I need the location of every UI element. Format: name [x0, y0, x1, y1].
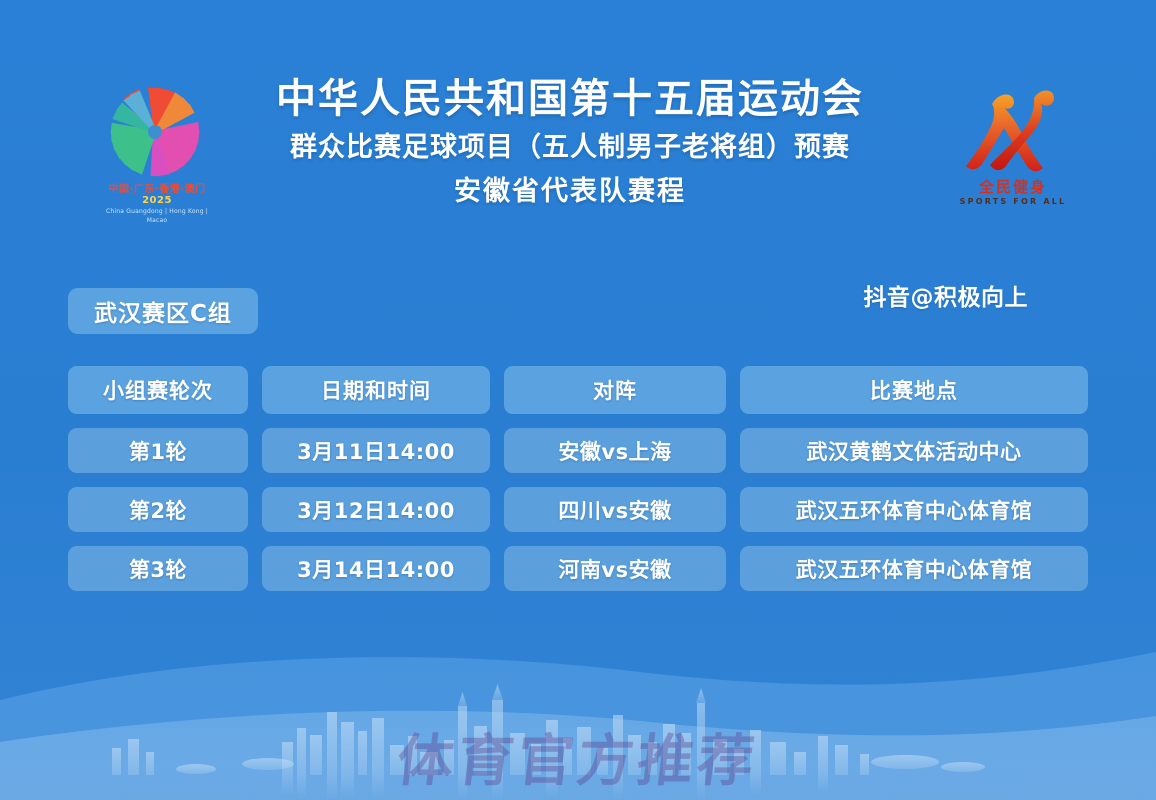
schedule-table: 小组赛轮次 日期和时间 对阵 比赛地点 第1轮 3月11日14:00 安徽vs上… [68, 366, 1090, 591]
social-handle: 抖音@积极向上 [864, 278, 1029, 312]
table-row: 第2轮 3月12日14:00 四川vs安徽 武汉五环体育中心体育馆 [68, 487, 1090, 532]
emblem-caption-cn: 中国·广东·香港·澳门 [109, 184, 206, 195]
title-block: 中华人民共和国第十五届运动会 群众比赛足球项目（五人制男子老将组）预赛 安徽省代… [200, 72, 940, 214]
sports-for-all-en: SPORTS FOR ALL [948, 196, 1078, 207]
poster-header: 中国·广东·香港·澳门 2025 China Guangdong | Hong … [0, 72, 1156, 267]
team-schedule-title: 安徽省代表队赛程 [200, 170, 940, 214]
column-header-round: 小组赛轮次 [68, 366, 248, 414]
column-header-datetime: 日期和时间 [262, 366, 490, 414]
table-header-row: 小组赛轮次 日期和时间 对阵 比赛地点 [68, 366, 1090, 414]
cell-venue: 武汉五环体育中心体育馆 [740, 487, 1088, 532]
cell-datetime: 3月12日14:00 [262, 487, 490, 532]
page-subtitle: 群众比赛足球项目（五人制男子老将组）预赛 [200, 126, 940, 170]
table-row: 第1轮 3月11日14:00 安徽vs上海 武汉黄鹤文体活动中心 [68, 428, 1090, 473]
sports-for-all-logo: 全民健身 SPORTS FOR ALL [948, 80, 1078, 220]
cell-venue: 武汉黄鹤文体活动中心 [740, 428, 1088, 473]
cell-match: 四川vs安徽 [504, 487, 726, 532]
cell-round: 第3轮 [68, 546, 248, 591]
cell-match: 安徽vs上海 [504, 428, 726, 473]
cell-round: 第2轮 [68, 487, 248, 532]
emblem-caption-year: 2025 [142, 195, 172, 206]
cell-round: 第1轮 [68, 428, 248, 473]
page-title: 中华人民共和国第十五届运动会 [200, 72, 940, 126]
sports-for-all-caption: 全民健身 SPORTS FOR ALL [948, 178, 1078, 207]
cell-datetime: 3月11日14:00 [262, 428, 490, 473]
watermark-text: 体育官方推荐 [0, 716, 1156, 797]
cell-match: 河南vs安徽 [504, 546, 726, 591]
games-emblem-icon [100, 84, 210, 184]
fifteenth-national-games-logo: 中国·广东·香港·澳门 2025 China Guangdong | Hong … [100, 84, 215, 219]
cell-datetime: 3月14日14:00 [262, 546, 490, 591]
sports-for-all-icon [948, 80, 1078, 180]
group-badge: 武汉赛区C组 [68, 288, 258, 334]
column-header-match: 对阵 [504, 366, 726, 414]
table-row: 第3轮 3月14日14:00 河南vs安徽 武汉五环体育中心体育馆 [68, 546, 1090, 591]
poster-canvas: 中国·广东·香港·澳门 2025 China Guangdong | Hong … [0, 0, 1156, 800]
cell-venue: 武汉五环体育中心体育馆 [740, 546, 1088, 591]
column-header-venue: 比赛地点 [740, 366, 1088, 414]
sports-for-all-cn: 全民健身 [948, 178, 1078, 196]
